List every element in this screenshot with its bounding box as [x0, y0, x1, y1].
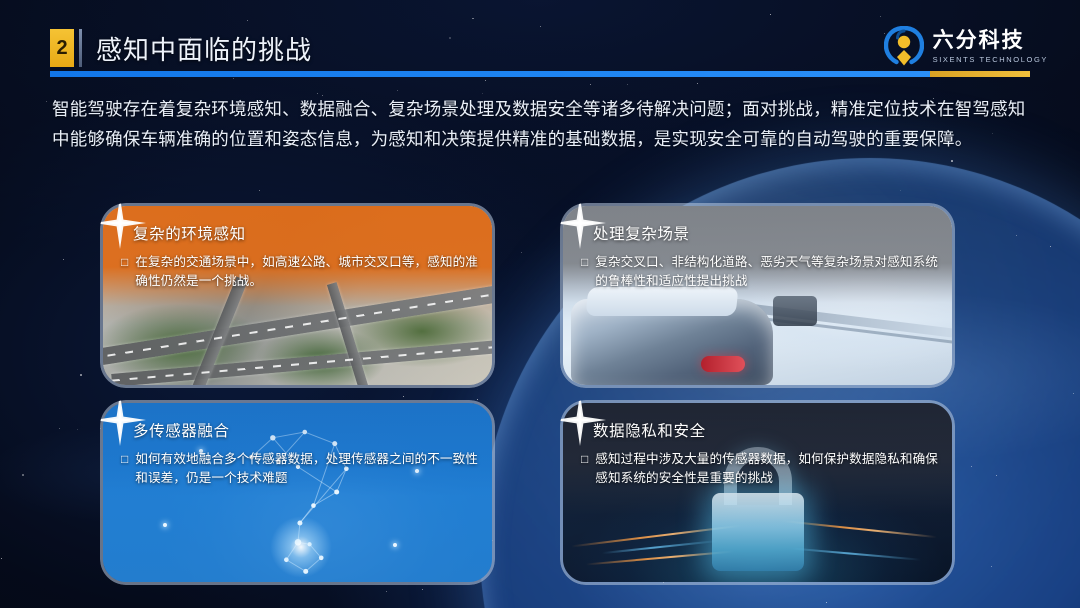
card-title: 处理复杂场景 [593, 222, 938, 244]
bullet-square-icon: □ [121, 253, 128, 272]
page-title: 感知中面临的挑战 [96, 30, 312, 67]
accent-bar-blue-segment [50, 71, 930, 77]
star [900, 190, 901, 191]
bullet-square-icon: □ [581, 253, 588, 272]
star [259, 190, 260, 191]
star [386, 591, 387, 592]
slide: 2 感知中面临的挑战 六分科技 SIXENTS TECHNOLOGY 智能驾驶存… [0, 0, 1080, 608]
card-text: 数据隐私和安全 □ 感知过程中涉及大量的传感器数据，如何保护数据隐私和确保感知系… [581, 419, 938, 488]
accent-bar-gold-segment [930, 71, 1030, 77]
bullet-square-icon: □ [581, 450, 588, 469]
section-number-badge: 2 [50, 29, 74, 67]
card-bullet: □ 感知过程中涉及大量的传感器数据，如何保护数据隐私和确保感知系统的安全性是重要… [581, 450, 938, 488]
card-inner: 多传感器融合 □ 如何有效地融合多个传感器数据，处理传感器之间的不一致性和误差，… [103, 403, 492, 582]
card-inner: 处理复杂场景 □ 复杂交叉口、非结构化道路、恶劣天气等复杂场景对感知系统的鲁棒性… [563, 206, 952, 385]
card-title: 多传感器融合 [133, 419, 478, 441]
logo-text: 六分科技 SIXENTS TECHNOLOGY [933, 30, 1048, 63]
card-text: 处理复杂场景 □ 复杂交叉口、非结构化道路、恶劣天气等复杂场景对感知系统的鲁棒性… [581, 222, 938, 291]
brand-logo: 六分科技 SIXENTS TECHNOLOGY [884, 26, 1048, 68]
card-text: 多传感器融合 □ 如何有效地融合多个传感器数据，处理传感器之间的不一致性和误差，… [121, 419, 478, 488]
challenge-card-multi-sensor-fusion[interactable]: 多传感器融合 □ 如何有效地融合多个传感器数据，处理传感器之间的不一致性和误差，… [100, 400, 495, 585]
star [951, 160, 953, 162]
card-bullet-text: 复杂交叉口、非结构化道路、恶劣天气等复杂场景对感知系统的鲁棒性和适应性提出挑战 [595, 253, 938, 291]
card-inner: 数据隐私和安全 □ 感知过程中涉及大量的传感器数据，如何保护数据隐私和确保感知系… [563, 403, 952, 582]
slide-header: 2 感知中面临的挑战 六分科技 SIXENTS TECHNOLOGY [0, 0, 1080, 86]
card-bullet: □ 复杂交叉口、非结构化道路、恶劣天气等复杂场景对感知系统的鲁棒性和适应性提出挑… [581, 253, 938, 291]
star [826, 602, 827, 603]
star [422, 589, 423, 590]
logo-name-en: SIXENTS TECHNOLOGY [933, 55, 1048, 64]
sixents-logo-icon [884, 26, 924, 68]
header-accent-bar [50, 71, 1030, 77]
card-bullet: □ 在复杂的交通场景中，如高速公路、城市交叉口等，感知的准确性仍然是一个挑战。 [121, 253, 478, 291]
card-bullet-text: 如何有效地融合多个传感器数据，处理传感器之间的不一致性和误差，仍是一个技术难题 [135, 450, 478, 488]
logo-name-cn: 六分科技 [933, 30, 1048, 52]
intro-paragraph: 智能驾驶存在着复杂环境感知、数据融合、复杂场景处理及数据安全等诸多待解决问题；面… [52, 94, 1042, 154]
challenge-card-grid: 复杂的环境感知 □ 在复杂的交通场景中，如高速公路、城市交叉口等，感知的准确性仍… [0, 195, 1080, 585]
card-bullet-text: 感知过程中涉及大量的传感器数据，如何保护数据隐私和确保感知系统的安全性是重要的挑… [595, 450, 938, 488]
challenge-card-handling-complex-scenes[interactable]: 处理复杂场景 □ 复杂交叉口、非结构化道路、恶劣天气等复杂场景对感知系统的鲁棒性… [560, 203, 955, 388]
challenge-card-complex-environment-perception[interactable]: 复杂的环境感知 □ 在复杂的交通场景中，如高速公路、城市交叉口等，感知的准确性仍… [100, 203, 495, 388]
card-title: 复杂的环境感知 [133, 222, 478, 244]
star [397, 90, 398, 91]
card-title: 数据隐私和安全 [593, 419, 938, 441]
card-inner: 复杂的环境感知 □ 在复杂的交通场景中，如高速公路、城市交叉口等，感知的准确性仍… [103, 206, 492, 385]
title-row: 2 感知中面临的挑战 [50, 28, 312, 68]
card-text: 复杂的环境感知 □ 在复杂的交通场景中，如高速公路、城市交叉口等，感知的准确性仍… [121, 222, 478, 291]
card-bullet: □ 如何有效地融合多个传感器数据，处理传感器之间的不一致性和误差，仍是一个技术难… [121, 450, 478, 488]
title-divider [79, 29, 82, 67]
challenge-card-data-privacy-and-security[interactable]: 数据隐私和安全 □ 感知过程中涉及大量的传感器数据，如何保护数据隐私和确保感知系… [560, 400, 955, 585]
bullet-square-icon: □ [121, 450, 128, 469]
card-bullet-text: 在复杂的交通场景中，如高速公路、城市交叉口等，感知的准确性仍然是一个挑战。 [135, 253, 478, 291]
star [46, 101, 47, 102]
